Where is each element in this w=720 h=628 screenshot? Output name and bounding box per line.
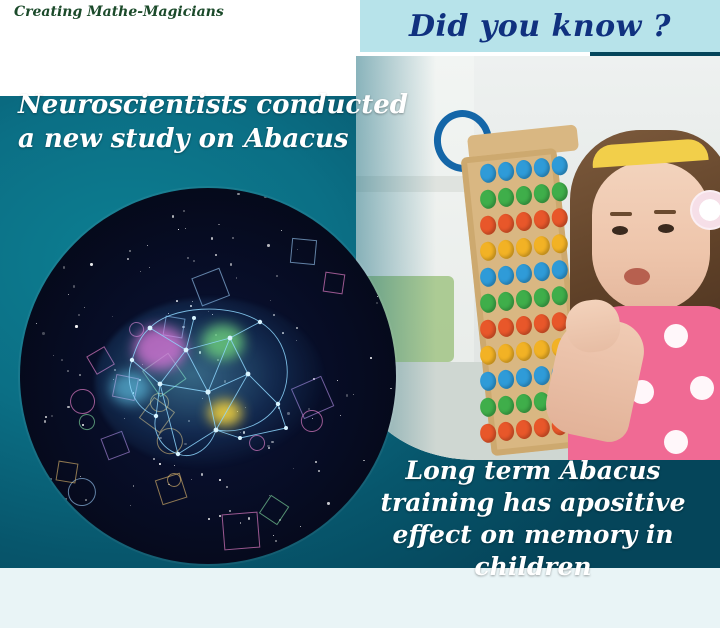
caption-line-2: training has apositive bbox=[358, 487, 708, 519]
caption-text: Long term Abacus training has apositive … bbox=[358, 455, 708, 583]
decorative-shape bbox=[259, 495, 290, 526]
star bbox=[183, 210, 185, 212]
star bbox=[276, 275, 278, 277]
star bbox=[376, 302, 378, 304]
star bbox=[80, 476, 81, 477]
star bbox=[193, 260, 195, 262]
star bbox=[327, 502, 329, 504]
star bbox=[300, 526, 301, 527]
star bbox=[394, 204, 395, 205]
star bbox=[45, 416, 47, 418]
star bbox=[53, 355, 54, 356]
decorative-shape bbox=[221, 512, 260, 551]
star bbox=[63, 266, 66, 269]
star bbox=[275, 540, 277, 542]
star bbox=[79, 374, 81, 376]
headline-line-1: Neuroscientists conducted bbox=[18, 90, 408, 120]
brand-logo-text: Creating Mathe-Magicians bbox=[14, 4, 224, 20]
star bbox=[208, 518, 211, 521]
star bbox=[130, 505, 131, 506]
decorative-shape bbox=[290, 237, 317, 264]
headline: Neuroscientists conducted a new study on… bbox=[18, 88, 448, 157]
star bbox=[44, 420, 46, 422]
star bbox=[20, 233, 21, 234]
star bbox=[236, 277, 237, 278]
star bbox=[346, 394, 349, 397]
star bbox=[390, 388, 392, 390]
star bbox=[126, 563, 127, 564]
star bbox=[218, 224, 220, 226]
decorative-shape bbox=[56, 460, 79, 483]
star bbox=[267, 244, 270, 247]
star bbox=[264, 196, 267, 199]
star bbox=[237, 193, 239, 195]
star bbox=[68, 294, 69, 295]
star bbox=[140, 271, 141, 272]
star bbox=[185, 228, 186, 229]
star bbox=[149, 267, 150, 268]
star bbox=[51, 415, 53, 417]
star bbox=[340, 415, 341, 416]
star bbox=[370, 357, 372, 359]
star bbox=[50, 478, 52, 480]
star bbox=[84, 307, 85, 308]
poster-canvas: Did you know ? Creating Mathe-Magicians … bbox=[0, 0, 720, 628]
star bbox=[394, 427, 395, 428]
caption-line-4: children bbox=[358, 551, 708, 583]
star bbox=[172, 215, 174, 217]
star bbox=[353, 394, 354, 395]
star bbox=[232, 237, 234, 239]
brain-wireframe-icon bbox=[90, 288, 330, 478]
star bbox=[67, 406, 69, 408]
caption-line-1: Long term Abacus bbox=[358, 455, 708, 487]
star bbox=[129, 250, 132, 253]
star bbox=[211, 237, 213, 239]
star bbox=[78, 314, 81, 317]
star bbox=[229, 510, 231, 512]
star bbox=[61, 359, 63, 361]
star bbox=[75, 325, 77, 327]
star bbox=[337, 380, 338, 381]
star bbox=[73, 285, 76, 288]
star bbox=[226, 486, 228, 488]
star bbox=[377, 296, 378, 297]
star bbox=[230, 263, 233, 266]
brain-illustration bbox=[90, 288, 330, 478]
star bbox=[65, 498, 67, 500]
star bbox=[391, 306, 392, 307]
star bbox=[356, 214, 357, 215]
star bbox=[103, 214, 104, 215]
star bbox=[36, 323, 37, 324]
star bbox=[281, 230, 282, 231]
did-you-know-label: Did you know ? bbox=[360, 4, 720, 48]
star bbox=[191, 479, 192, 480]
star bbox=[219, 479, 221, 481]
star bbox=[42, 332, 45, 335]
headline-line-2: a new study on Abacus bbox=[18, 122, 448, 156]
star bbox=[133, 485, 134, 486]
star bbox=[187, 257, 189, 259]
star bbox=[67, 370, 69, 372]
star bbox=[273, 535, 274, 536]
star bbox=[71, 528, 73, 530]
star bbox=[215, 254, 218, 257]
star bbox=[178, 229, 179, 230]
star bbox=[127, 258, 129, 260]
star bbox=[90, 263, 92, 265]
star bbox=[395, 267, 396, 268]
star bbox=[147, 245, 148, 246]
brain-network-image bbox=[20, 188, 396, 564]
caption-line-3: effect on memory in bbox=[358, 519, 708, 551]
star bbox=[386, 285, 388, 287]
